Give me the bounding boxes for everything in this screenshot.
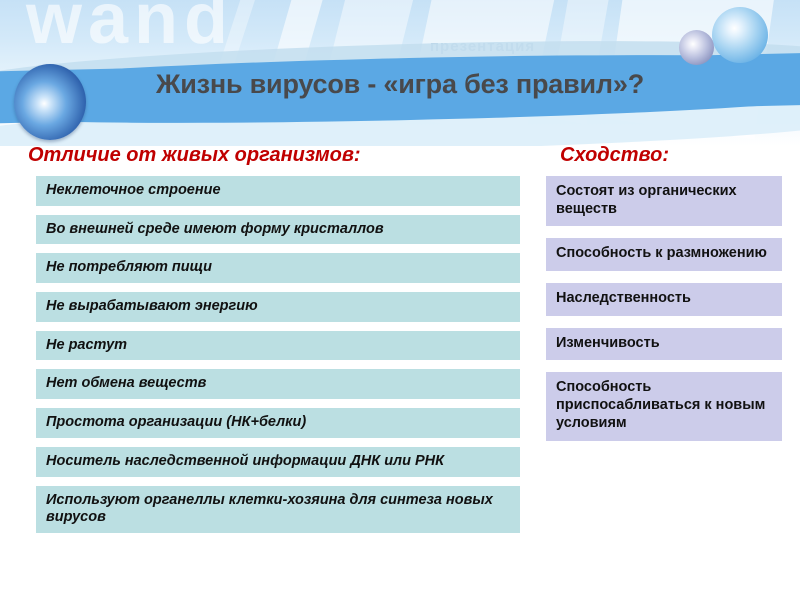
list-item: Наследственность: [546, 283, 782, 316]
list-item: Простота организации (НК+белки): [36, 408, 520, 438]
list-item: Способность к размножению: [546, 238, 782, 271]
list-item: Не вырабатывают энергию: [36, 292, 520, 322]
left-column-heading: Отличие от живых организмов:: [28, 144, 361, 167]
watermark-text: wand: [26, 0, 234, 60]
page-title: Жизнь вирусов - «игра без правил»?: [0, 69, 800, 100]
sphere-icon-small: [679, 30, 714, 65]
list-item: Не растут: [36, 331, 520, 361]
slide-canvas: wand презентация Жизнь вирусов - «игра б…: [0, 0, 800, 600]
list-item: Изменчивость: [546, 328, 782, 361]
list-item: Во внешней среде имеют форму кристаллов: [36, 215, 520, 245]
right-column-list: Состоят из органических веществСпособнос…: [546, 176, 782, 453]
list-item: Носитель наследственной информации ДНК и…: [36, 447, 520, 477]
sphere-icon-large-right: [712, 7, 768, 63]
list-item: Используют органеллы клетки-хозяина для …: [36, 486, 520, 533]
list-item: Неклеточное строение: [36, 176, 520, 206]
list-item: Способность приспосабливаться к новым ус…: [546, 372, 782, 440]
list-item: Не потребляют пищи: [36, 253, 520, 283]
left-column-list: Неклеточное строениеВо внешней среде име…: [36, 176, 520, 542]
list-item: Состоят из органических веществ: [546, 176, 782, 226]
list-item: Нет обмена веществ: [36, 369, 520, 399]
right-column-heading: Сходство:: [560, 144, 669, 167]
